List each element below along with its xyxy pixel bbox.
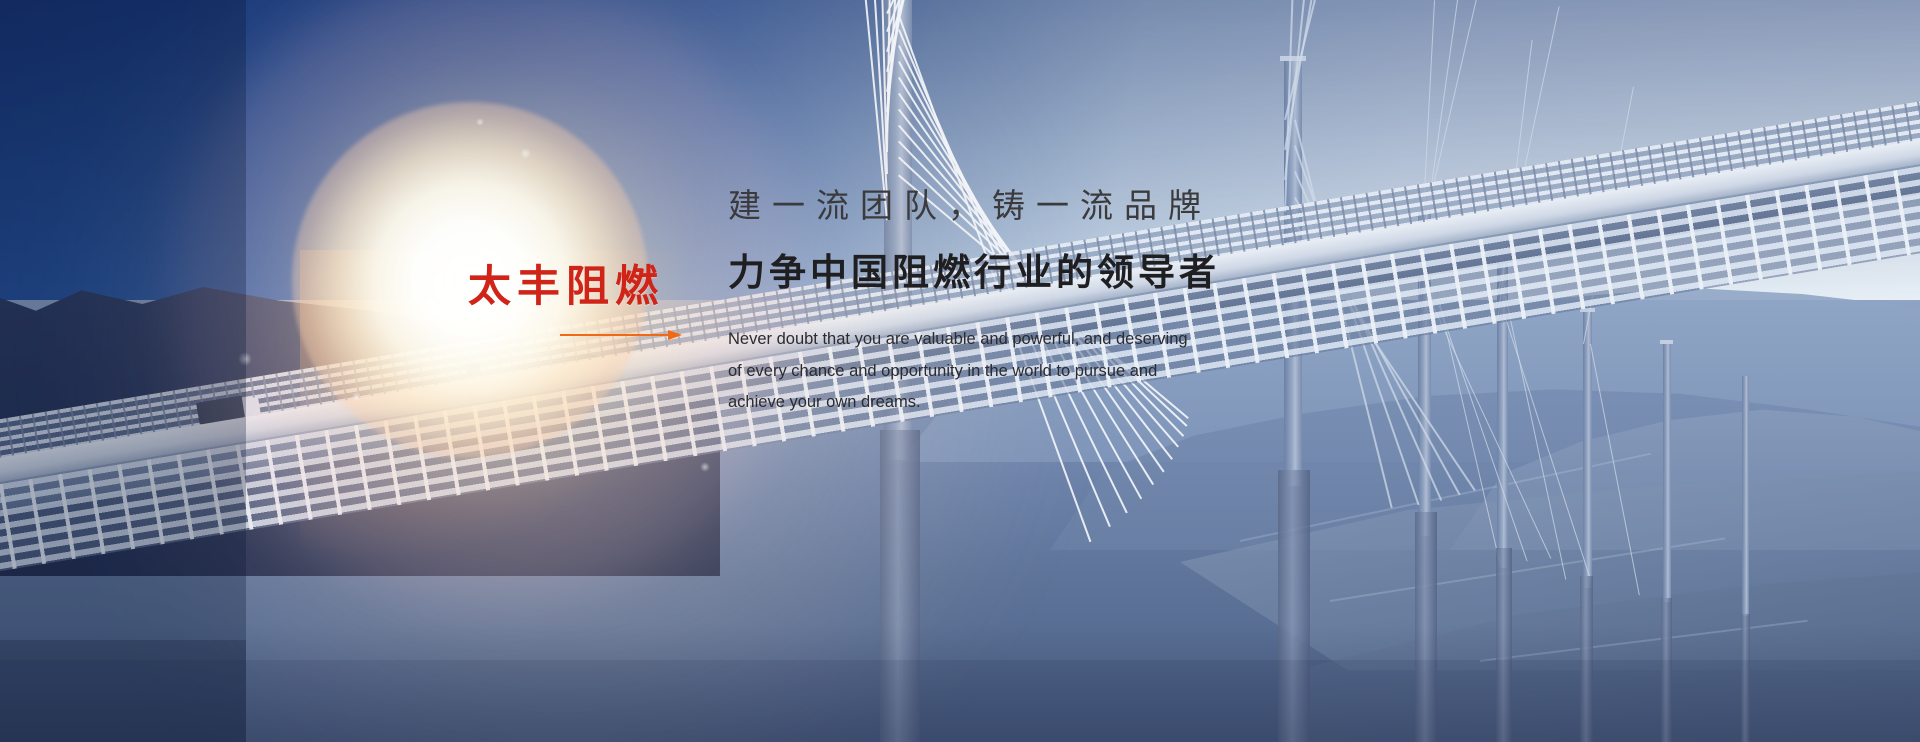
brand-logo[interactable]: 太丰阻燃 <box>468 266 708 341</box>
stay-cable <box>1590 344 1640 596</box>
lens-flare-dot <box>700 462 710 472</box>
lens-flare-dot <box>352 392 361 401</box>
bridge-pylon-7 <box>1742 376 1749 616</box>
lens-flare-dot <box>476 118 484 126</box>
brand-logo-text: 太丰阻燃 <box>468 266 708 309</box>
arrow-right-icon <box>560 329 682 341</box>
lens-flare-dot <box>520 148 531 159</box>
bridge-pylon-cap <box>1660 340 1673 344</box>
headline-secondary: 力争中国阻燃行业的领导者 <box>728 250 1368 296</box>
hero-copy: 建一流团队，铸一流品牌 力争中国阻燃行业的领导者 Never doubt tha… <box>728 188 1368 419</box>
sub-copy: Never doubt that you are valuable and po… <box>728 324 1368 419</box>
hero-banner: 太丰阻燃 建一流团队，铸一流品牌 力争中国阻燃行业的领导者 Never doub… <box>0 0 1920 742</box>
sub-copy-line: achieve your own dreams. <box>728 387 1368 419</box>
sub-copy-line: of every chance and opportunity in the w… <box>728 356 1368 388</box>
arrow-shaft <box>560 334 672 336</box>
headline-primary: 建一流团队，铸一流品牌 <box>728 188 1368 228</box>
bridge-pylon-6 <box>1663 340 1671 602</box>
bottom-vignette <box>0 624 1920 742</box>
sub-copy-line: Never doubt that you are valuable and po… <box>728 324 1368 356</box>
arrow-head <box>668 330 682 340</box>
